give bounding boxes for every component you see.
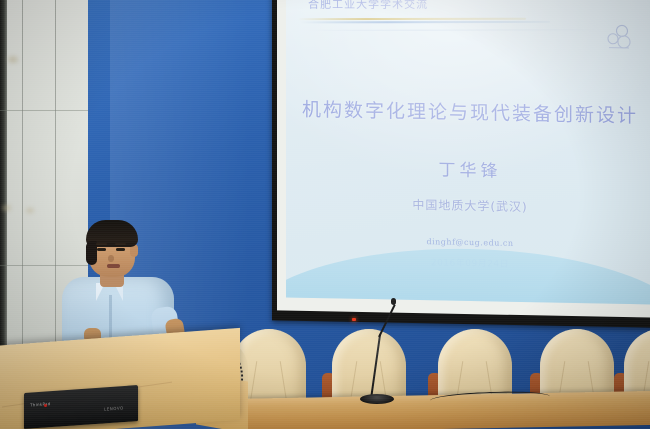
slide-accent-line-gold xyxy=(298,18,526,20)
wall-mark xyxy=(8,56,18,63)
screen-power-led xyxy=(352,318,356,321)
speaker-mouth xyxy=(107,264,120,268)
speaker-eye xyxy=(97,248,106,251)
projection-screen: 合肥工业大学学术交流 机构数字化理论与现代装备创新设计 丁华锋 中国地质大学(武… xyxy=(286,0,650,305)
wall-edge-shadow xyxy=(0,0,7,360)
slide-accent-line-pale xyxy=(306,29,596,31)
speaker-nose xyxy=(108,255,114,262)
slide-presenter-name: 丁华锋 xyxy=(286,152,650,184)
microphone-head-icon xyxy=(391,298,396,305)
chair-crease xyxy=(250,361,258,403)
panel-seam xyxy=(55,0,56,360)
slide-header-text: 合肥工业大学学术交流 xyxy=(308,0,428,12)
slide-affiliation: 中国地质大学(武汉) xyxy=(286,193,650,217)
panel-seam xyxy=(0,265,88,266)
wall-mark xyxy=(2,205,11,211)
panel-seam xyxy=(0,110,88,111)
thinkpad-logo-dot-icon xyxy=(44,404,47,407)
slide-main-title: 机构数字化理论与现代装备创新设计 xyxy=(286,94,650,128)
wall-mark xyxy=(26,208,34,213)
microphone-base xyxy=(360,394,394,404)
presentation-slide: 合肥工业大学学术交流 机构数字化理论与现代装备创新设计 丁华锋 中国地质大学(武… xyxy=(286,0,650,305)
laptop-brand-label: ThinkPad xyxy=(30,401,45,407)
panel-seam xyxy=(22,0,23,360)
lecture-hall-photo: 合肥工业大学学术交流 机构数字化理论与现代装备创新设计 丁华锋 中国地质大学(武… xyxy=(0,0,650,429)
speaker-eyebrow xyxy=(115,243,126,245)
speaker-eyebrow xyxy=(96,243,107,245)
chair-crease xyxy=(280,361,288,403)
slide-accent-line-blue xyxy=(300,21,550,23)
speaker-eye xyxy=(116,248,125,251)
university-emblem-icon xyxy=(600,22,634,53)
